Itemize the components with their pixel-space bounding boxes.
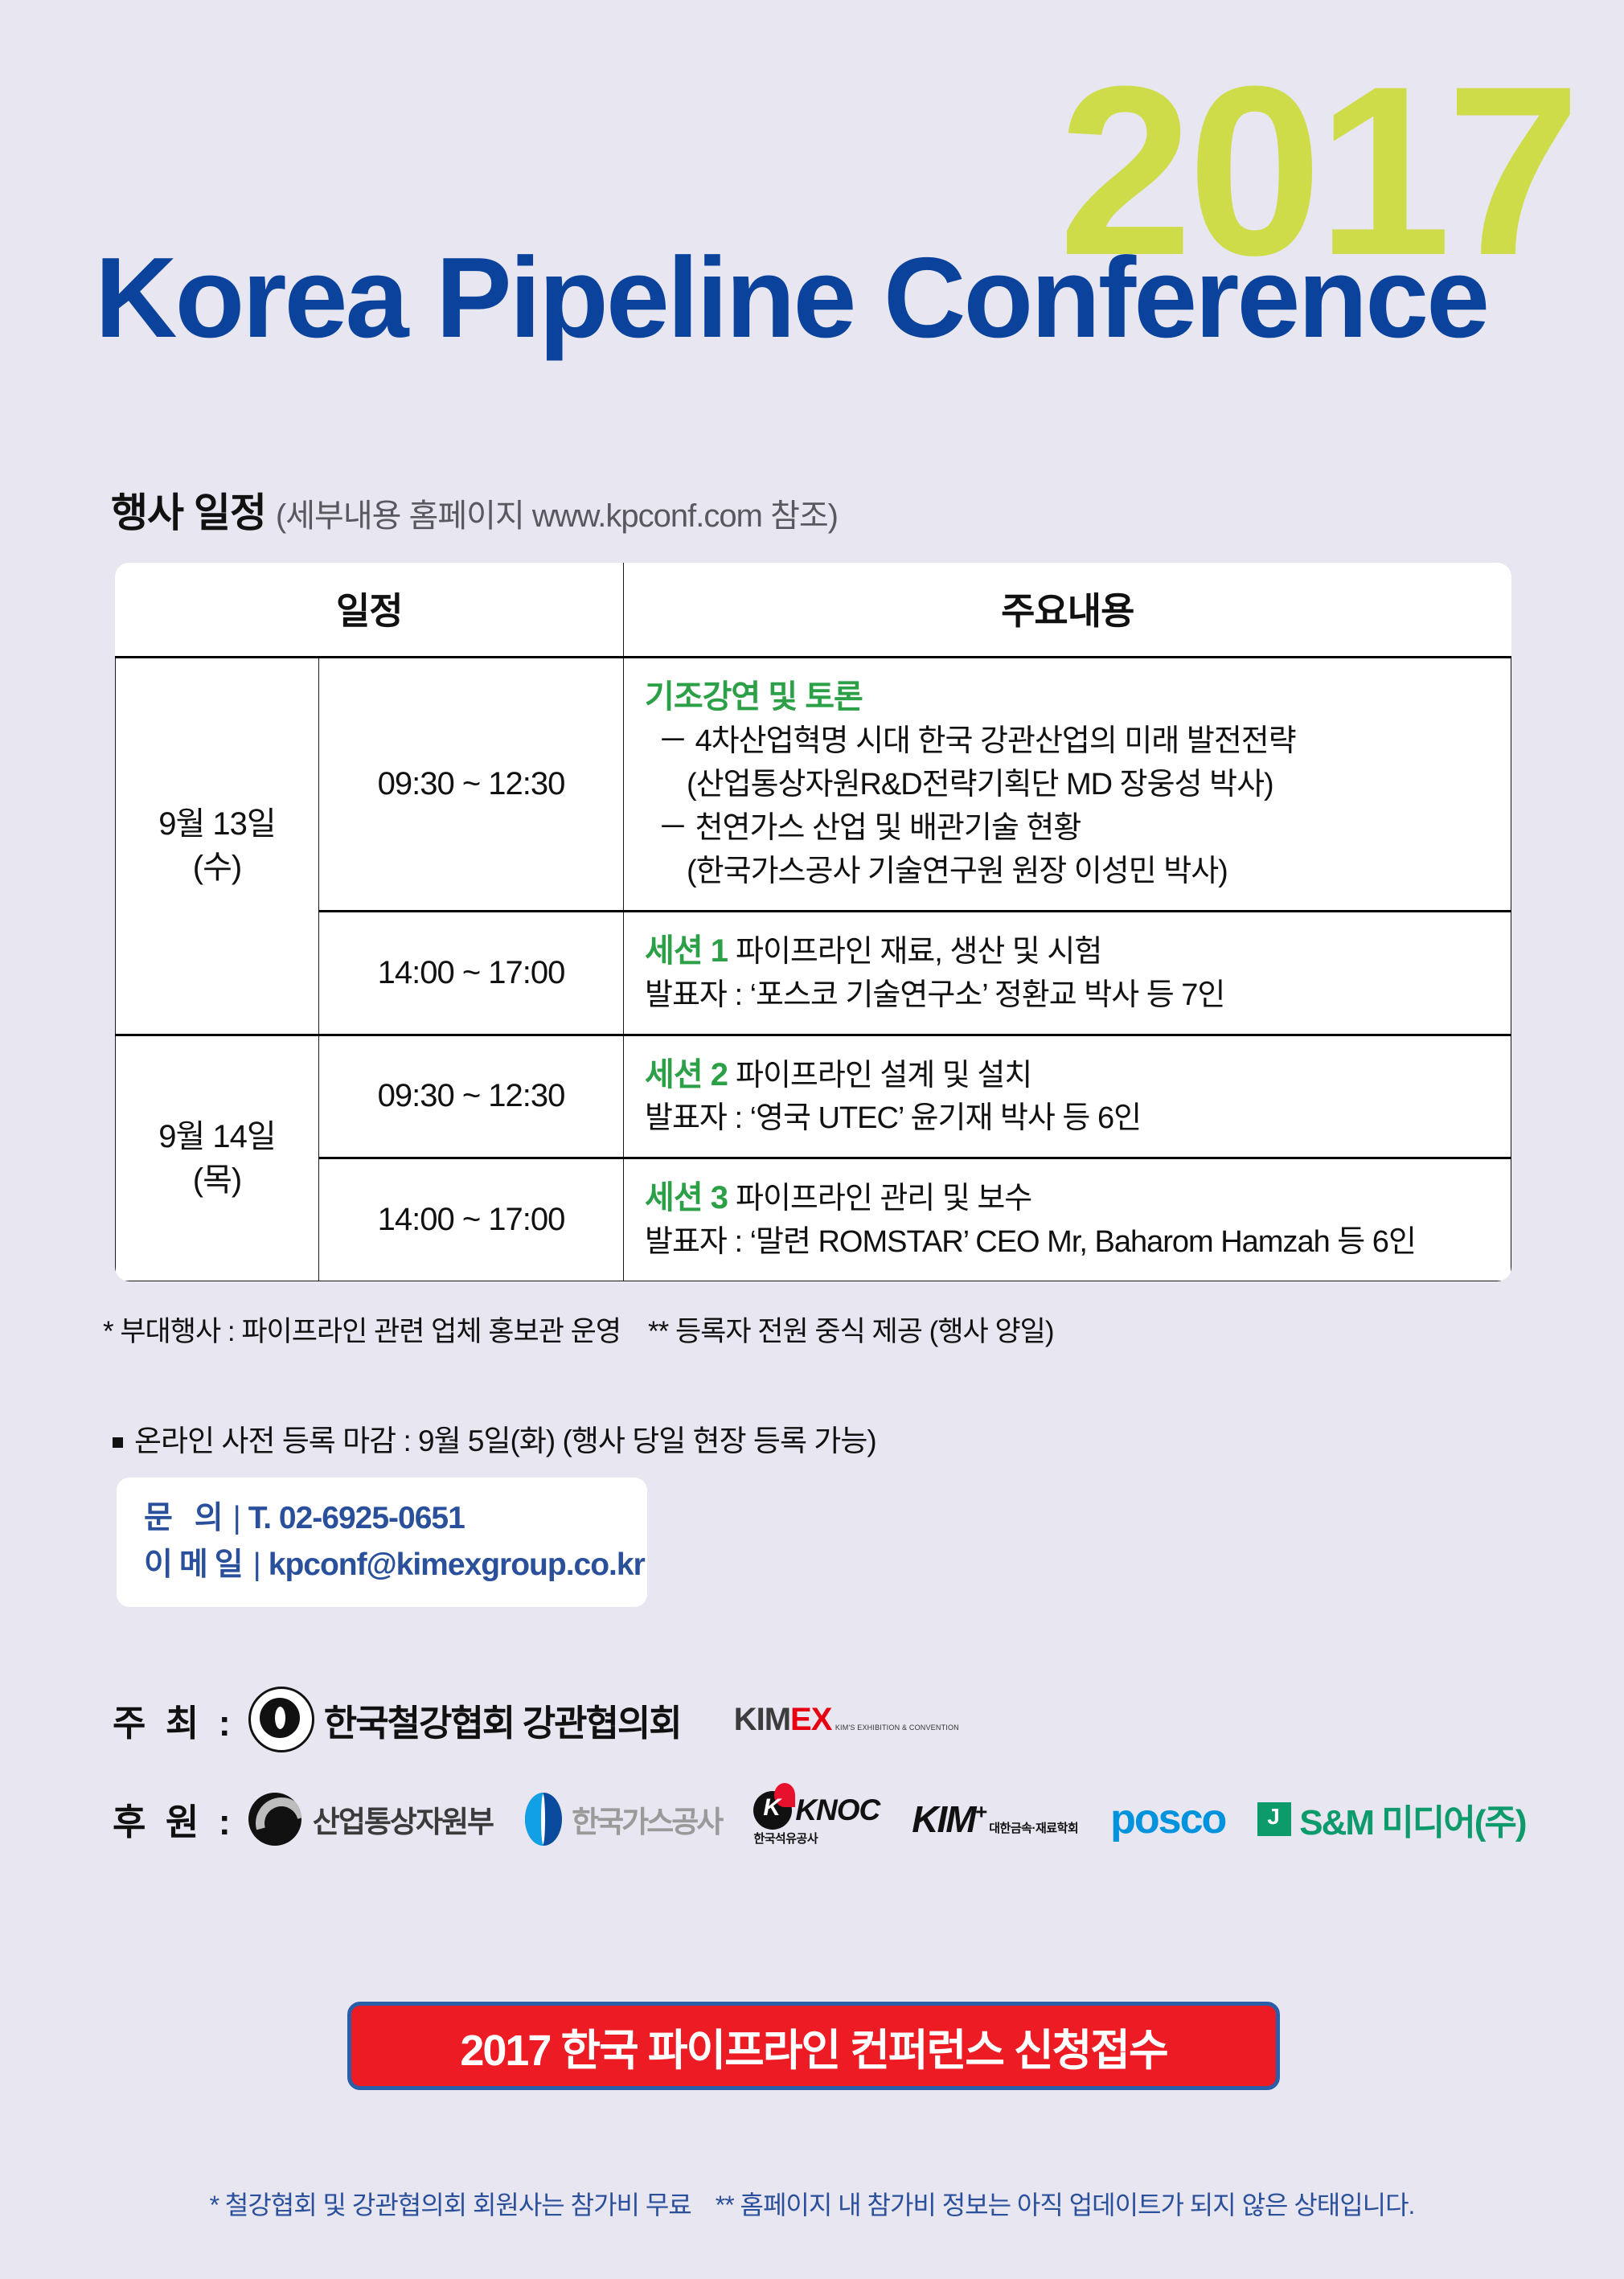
sponsor-label: 후 원 :: [113, 1793, 236, 1845]
contact-email-value[interactable]: kpconf@kimexgroup.co.kr: [269, 1547, 645, 1582]
sponsor-row: 후 원 : 산업통상자원부 한국가스공사 K KNOC 한국석유공사 KIM+ …: [113, 1791, 1558, 1847]
time-cell: 09:30 ~ 12:30: [319, 1035, 624, 1158]
page-title: Korea Pipeline Conference: [95, 241, 1487, 355]
contact-box: 문 의|T. 02-6925-0651 이메일|kpconf@kimexgrou…: [117, 1478, 647, 1607]
table-row: 14:00 ~ 17:00 세션 1파이프라인 재료, 생산 및 시험 발표자 …: [116, 911, 1511, 1035]
knoc-icon: K: [753, 1791, 792, 1830]
time-cell: 14:00 ~ 17:00: [319, 1158, 624, 1281]
sponsor-name-motie: 산업통상자원부: [313, 1797, 493, 1841]
session-label: 세션 3: [645, 1180, 728, 1215]
table-header-row: 일정 주요내용: [116, 563, 1511, 658]
sponsor-logo-sm-media: S&M 미디어(주): [1257, 1793, 1525, 1845]
weekday-text-day1: (수): [119, 846, 315, 889]
schedule-table-container: 일정 주요내용 9월 13일 (수) 09:30 ~ 12:30 기조강연 및 …: [115, 563, 1511, 1281]
table-head: 일정 주요내용: [116, 563, 1511, 658]
host-label: 주 최 :: [113, 1694, 236, 1746]
schedule-heading-main: 행사 일정: [111, 481, 266, 539]
kimex-main-text: KIM: [734, 1702, 790, 1737]
kimex-logo: KIMEX KIM'S EXHIBITION & CONVENTION: [734, 1703, 959, 1736]
sponsor-name-knoc: KNOC: [795, 1793, 880, 1827]
kosa-seal-icon: [248, 1687, 314, 1752]
kim-logo-stack: KIM+ 대한금속·재료학회: [912, 1801, 1078, 1838]
knoc-wordmark: K KNOC: [753, 1791, 880, 1830]
table-row: 9월 14일 (목) 09:30 ~ 12:30 세션 2파이프라인 설계 및 …: [116, 1035, 1511, 1158]
sm-media-icon: [1257, 1802, 1291, 1836]
table-body: 9월 13일 (수) 09:30 ~ 12:30 기조강연 및 토론 － 4차산…: [116, 658, 1511, 1281]
keynote-item-2: － 천연가스 산업 및 배관기술 현황: [645, 807, 1511, 851]
session-title: 파이프라인 관리 및 보수: [736, 1182, 1031, 1215]
session-title: 파이프라인 설계 및 설치: [736, 1059, 1031, 1092]
contact-email-label: 이메일: [144, 1547, 250, 1582]
schedule-notes: * 부대행사 : 파이프라인 관련 업체 홍보관 운영** 등록자 전원 중식 …: [103, 1309, 1054, 1350]
session-heading-line: 세션 3파이프라인 관리 및 보수: [645, 1175, 1511, 1221]
session-heading-line: 세션 2파이프라인 설계 및 설치: [645, 1052, 1511, 1098]
square-bullet-icon: [113, 1437, 123, 1448]
poster-title-block: 2017 Korea Pipeline Conference: [0, 0, 1624, 450]
table-row: 14:00 ~ 17:00 세션 3파이프라인 관리 및 보수 발표자 : ‘말…: [116, 1158, 1511, 1281]
sponsor-name-kogas: 한국가스공사: [572, 1797, 721, 1841]
sponsor-logo-kim: KIM+ 대한금속·재료학회: [912, 1801, 1078, 1838]
kim-superscript: +: [975, 1799, 986, 1823]
note-lunch: ** 등록자 전원 중식 제공 (행사 양일): [648, 1316, 1054, 1347]
sponsor-logo-kogas: 한국가스공사: [525, 1793, 721, 1846]
contact-phone-label: 문 의: [144, 1501, 230, 1535]
keynote-item-1: － 4차산업혁명 시대 한국 강관산업의 미래 발전전략: [645, 720, 1511, 764]
date-cell-day2: 9월 14일 (목): [116, 1035, 319, 1281]
sponsor-name-sm-media: S&M 미디어(주): [1299, 1793, 1525, 1845]
contact-email-line: 이메일|kpconf@kimexgroup.co.kr: [144, 1542, 647, 1588]
table-row: 9월 13일 (수) 09:30 ~ 12:30 기조강연 및 토론 － 4차산…: [116, 658, 1511, 912]
contact-separator: |: [253, 1547, 260, 1582]
knoc-logo-stack: K KNOC 한국석유공사: [753, 1791, 880, 1847]
registration-button-label: 2017 한국 파이프라인 컨퍼런스 신청접수: [460, 2015, 1167, 2078]
session-presenter: 발표자 : ‘포스코 기술연구소’ 정환교 박사 등 7인: [645, 974, 1511, 1018]
topic-cell: 기조강연 및 토론 － 4차산업혁명 시대 한국 강관산업의 미래 발전전략 (…: [624, 658, 1511, 912]
keynote-speaker-1: (산업통상자원R&D전략기획단 MD 장웅성 박사): [645, 764, 1511, 807]
sponsor-logo-knoc: K KNOC 한국석유공사: [753, 1791, 880, 1847]
schedule-heading: 행사 일정 (세부내용 홈페이지 www.kpconf.com 참조): [111, 481, 838, 539]
knoc-subtitle: 한국석유공사: [753, 1832, 818, 1846]
date-text-day2: 9월 14일: [119, 1115, 315, 1158]
weekday-text-day2: (목): [119, 1158, 315, 1202]
sponsor-logo-motie: 산업통상자원부: [248, 1793, 493, 1846]
kimex-wordmark: KIMEX: [734, 1702, 832, 1737]
host-logo-kosa: 한국철강협회 강관협의회: [248, 1687, 681, 1752]
registration-button[interactable]: 2017 한국 파이프라인 컨퍼런스 신청접수: [347, 2002, 1280, 2090]
kim-subtitle: 대한금속·재료학회: [989, 1822, 1078, 1835]
kogas-flame-icon: [525, 1793, 562, 1846]
sponsor-name-kim: KIM: [912, 1798, 974, 1840]
topic-cell: 세션 2파이프라인 설계 및 설치 발표자 : ‘영국 UTEC’ 윤기재 박사…: [624, 1035, 1511, 1158]
session-label: 세션 1: [645, 933, 728, 969]
date-text-day1: 9월 13일: [119, 802, 315, 846]
sponsor-logo-posco: posco: [1110, 1798, 1225, 1840]
posco-icon: posco: [1110, 1798, 1225, 1840]
column-header-content: 주요내용: [624, 563, 1511, 658]
time-cell: 14:00 ~ 17:00: [319, 911, 624, 1035]
topic-cell: 세션 3파이프라인 관리 및 보수 발표자 : ‘말련 ROMSTAR’ CEO…: [624, 1158, 1511, 1281]
contact-phone-value: T. 02-6925-0651: [248, 1501, 465, 1535]
host-row: 주 최 : 한국철강협회 강관협의회 KIMEX KIM'S EXHIBITIO…: [113, 1687, 959, 1752]
keynote-speaker-2: (한국가스공사 기술연구원 원장 이성민 박사): [645, 851, 1511, 894]
host-name: 한국철강협회 강관협의회: [324, 1694, 681, 1746]
session-label: 세션 2: [645, 1057, 728, 1092]
note-side-events: * 부대행사 : 파이프라인 관련 업체 홍보관 운영: [103, 1316, 621, 1347]
session-presenter: 발표자 : ‘말련 ROMSTAR’ CEO Mr, Baharom Hamza…: [645, 1221, 1511, 1265]
session-heading-line: 세션 1파이프라인 재료, 생산 및 시험: [645, 928, 1511, 974]
kim-icon: KIM+: [912, 1798, 986, 1840]
topic-cell: 세션 1파이프라인 재료, 생산 및 시험 발표자 : ‘포스코 기술연구소’ …: [624, 911, 1511, 1035]
registration-deadline: 온라인 사전 등록 마감 : 9월 5일(화) (행사 당일 현장 등록 가능): [113, 1416, 876, 1460]
contact-phone-line: 문 의|T. 02-6925-0651: [144, 1495, 647, 1542]
footer-note-update: ** 홈페이지 내 참가비 정보는 아직 업데이트가 되지 않은 상태입니다.: [716, 2191, 1415, 2220]
session-presenter: 발표자 : ‘영국 UTEC’ 윤기재 박사 등 6인: [645, 1097, 1511, 1141]
time-cell: 09:30 ~ 12:30: [319, 658, 624, 912]
date-cell-day1: 9월 13일 (수): [116, 658, 319, 1035]
motie-taegeuk-icon: [248, 1793, 301, 1846]
schedule-table: 일정 주요내용 9월 13일 (수) 09:30 ~ 12:30 기조강연 및 …: [115, 563, 1511, 1281]
contact-separator: |: [233, 1501, 240, 1535]
session-title: 파이프라인 재료, 생산 및 시험: [736, 935, 1101, 969]
knoc-k-letter: K: [763, 1794, 781, 1822]
column-header-schedule: 일정: [116, 563, 624, 658]
footer-note-free: * 철강협회 및 강관협의회 회원사는 참가비 무료: [210, 2191, 691, 2220]
kimex-accent-text: EX: [790, 1702, 831, 1737]
deadline-text: 온라인 사전 등록 마감 : 9월 5일(화) (행사 당일 현장 등록 가능): [134, 1424, 876, 1457]
keynote-title: 기조강연 및 토론: [645, 674, 1511, 720]
schedule-heading-sub: (세부내용 홈페이지 www.kpconf.com 참조): [276, 490, 838, 536]
kimex-tagline: KIM'S EXHIBITION & CONVENTION: [835, 1724, 959, 1732]
footer-notes: * 철강협회 및 강관협의회 회원사는 참가비 무료** 홈페이지 내 참가비 …: [0, 2185, 1624, 2222]
